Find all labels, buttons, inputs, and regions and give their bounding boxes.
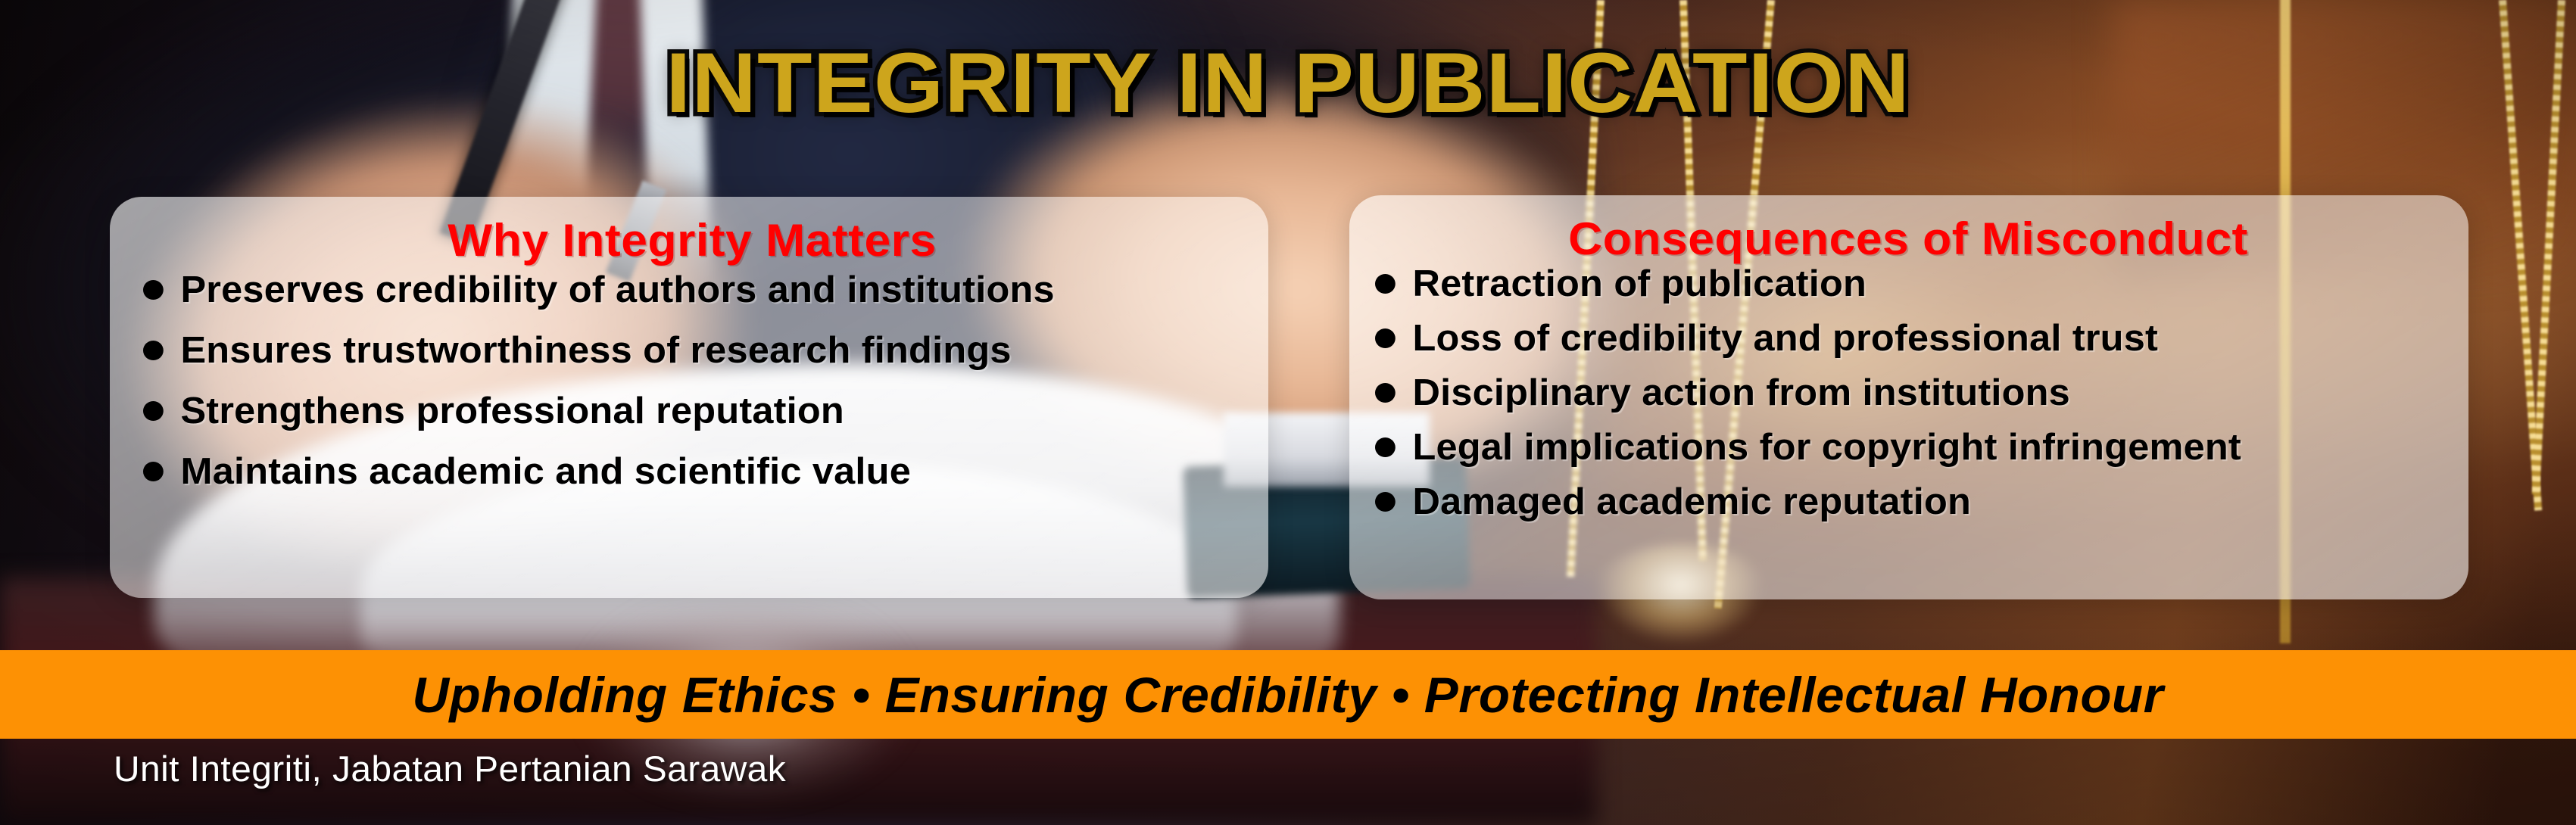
list-item: Loss of credibility and professional tru…	[1375, 320, 2473, 357]
bullet-dot-icon	[1375, 328, 1396, 348]
footer-attribution: Unit Integriti, Jabatan Pertanian Sarawa…	[114, 751, 786, 786]
panel-left-bullet-list: Preserves credibility of authors and ins…	[143, 272, 1241, 490]
list-item-label: Loss of credibility and professional tru…	[1412, 320, 2158, 357]
bullet-dot-icon	[1375, 383, 1396, 403]
panel-consequences-of-misconduct: Consequences of Misconduct Retraction of…	[1349, 195, 2468, 599]
bullet-dot-icon	[143, 401, 164, 421]
bullet-dot-icon	[143, 280, 164, 300]
bullet-dot-icon	[1375, 274, 1396, 294]
tagline-text: Upholding Ethics • Ensuring Credibility …	[412, 670, 2163, 720]
tagline-banner: Upholding Ethics • Ensuring Credibility …	[0, 650, 2576, 739]
bullet-dot-icon	[143, 462, 164, 481]
bullet-dot-icon	[1375, 437, 1396, 457]
list-item: Maintains academic and scientific value	[143, 453, 1274, 490]
list-item: Strengthens professional reputation	[143, 393, 1274, 430]
panel-right-heading: Consequences of Misconduct	[1354, 215, 2462, 263]
list-item: Ensures trustworthiness of research find…	[143, 332, 1274, 369]
list-item: Retraction of publication	[1375, 266, 2473, 303]
list-item: Legal implications for copyright infring…	[1375, 429, 2473, 466]
list-item-label: Legal implications for copyright infring…	[1412, 429, 2241, 466]
list-item: Disciplinary action from institutions	[1375, 375, 2473, 412]
list-item: Preserves credibility of authors and ins…	[143, 272, 1274, 309]
poster-canvas: INTEGRITY IN PUBLICATION Why Integrity M…	[0, 0, 2576, 825]
list-item-label: Ensures trustworthiness of research find…	[180, 332, 1011, 369]
list-item-label: Maintains academic and scientific value	[180, 453, 911, 490]
list-item-label: Strengthens professional reputation	[180, 393, 844, 430]
list-item-label: Disciplinary action from institutions	[1412, 375, 2070, 412]
list-item-label: Damaged academic reputation	[1412, 484, 1971, 521]
bullet-dot-icon	[143, 341, 164, 360]
poster-title: INTEGRITY IN PUBLICATION	[0, 41, 2576, 126]
list-item: Damaged academic reputation	[1375, 484, 2473, 521]
list-item-label: Preserves credibility of authors and ins…	[180, 272, 1054, 309]
panel-why-integrity-matters: Why Integrity Matters Preserves credibil…	[110, 197, 1268, 598]
panel-left-heading: Why Integrity Matters	[121, 216, 1263, 264]
panel-right-bullet-list: Retraction of publication Loss of credib…	[1375, 266, 2441, 521]
bullet-dot-icon	[1375, 492, 1396, 512]
list-item-label: Retraction of publication	[1412, 266, 1867, 303]
